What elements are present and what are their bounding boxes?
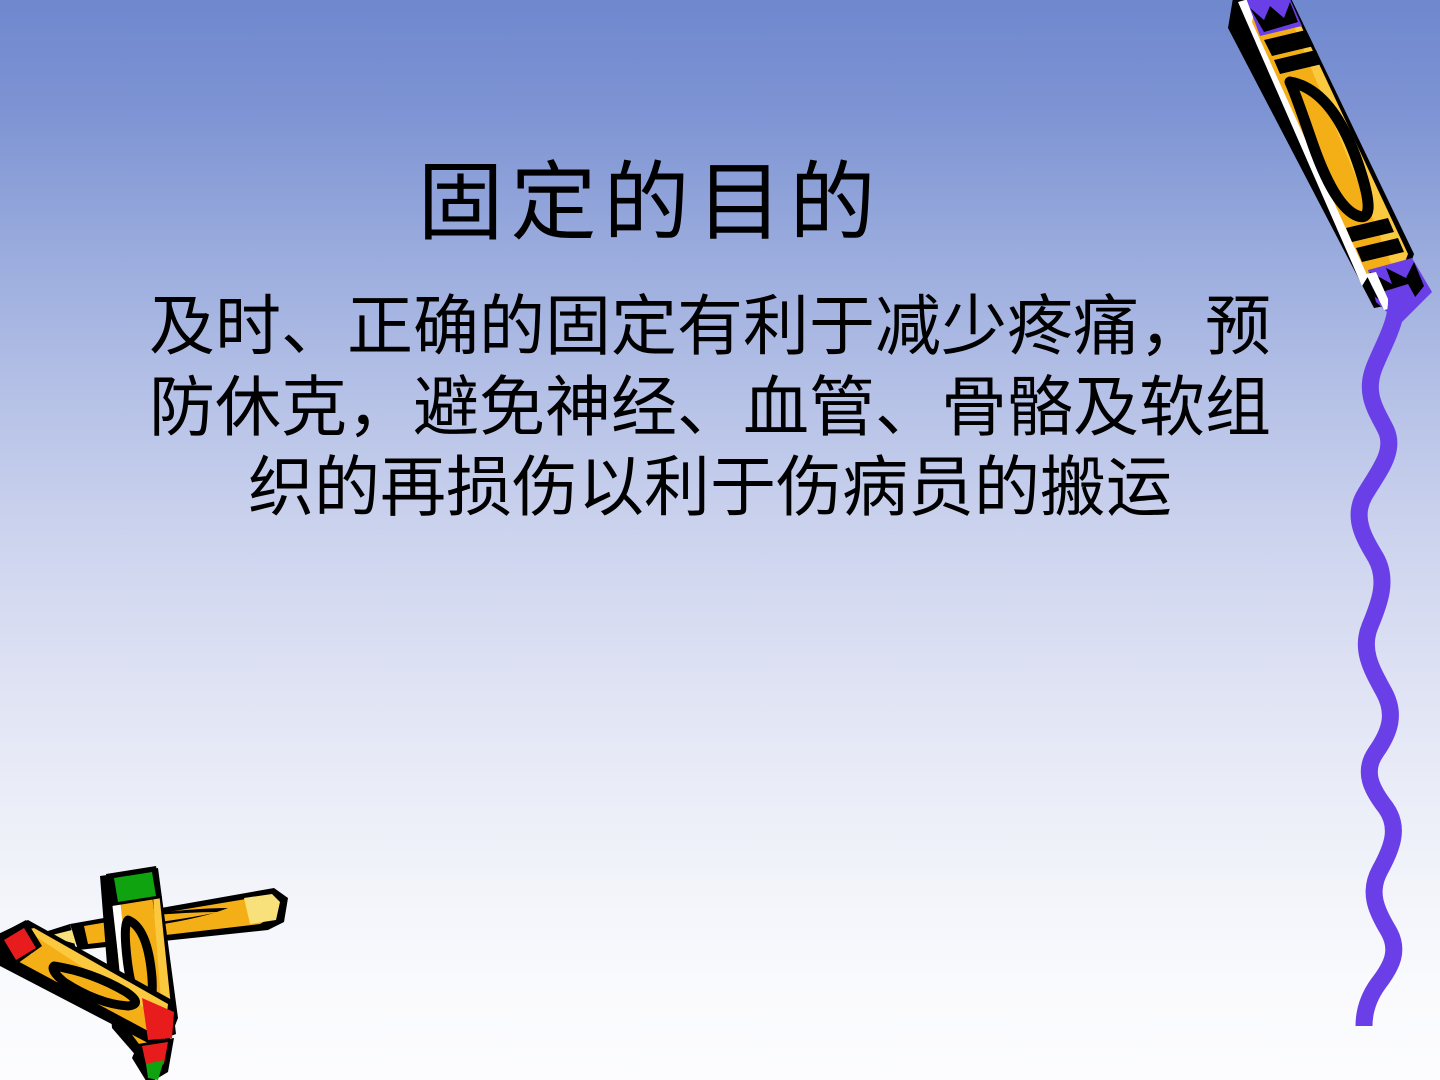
crayon-squiggle-icon [1330, 290, 1440, 1030]
body-line-1: 及时、正确的固定有利于减少疼痛，预 [130, 288, 1290, 369]
crayon-cluster-icon [0, 858, 312, 1080]
title-container: 固定的目的 [0, 160, 1300, 246]
presentation-slide: 固定的目的 及时、正确的固定有利于减少疼痛，预 防休克，避免神经、血管、骨骼及软… [0, 0, 1440, 1080]
page-title: 固定的目的 [418, 160, 883, 246]
body-line-2: 防休克，避免神经、血管、骨骼及软组 [130, 369, 1290, 450]
body-text-container: 及时、正确的固定有利于减少疼痛，预 防休克，避免神经、血管、骨骼及软组 织的再损… [130, 288, 1290, 530]
body-line-3: 织的再损伤以利于伤病员的搬运 [130, 449, 1290, 530]
